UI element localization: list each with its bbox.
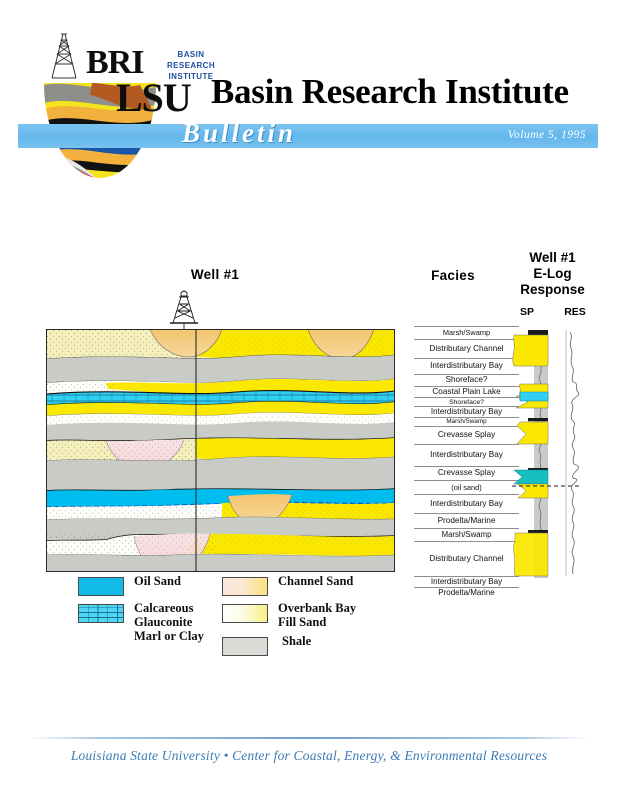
facies-row: (oil sand) <box>414 480 519 494</box>
elog-panel <box>508 322 600 578</box>
legend-swatch-overbank <box>222 604 268 623</box>
publication-title: Basin Research Institute <box>211 72 569 112</box>
footer-divider <box>30 737 588 739</box>
facies-label: Marsh/Swamp <box>414 529 519 539</box>
facies-row: Distributary Channel <box>414 339 519 358</box>
facies-label: Distributary Channel <box>414 542 519 564</box>
facies-row: Marsh/Swamp <box>414 417 519 426</box>
legend-label-overbank-line1: Overbank Bay <box>278 601 428 615</box>
legend-swatch-channel-sand <box>222 577 268 596</box>
facies-row: Crevasse Splay <box>414 426 519 444</box>
cross-section-panel <box>46 329 395 572</box>
facies-row: Prodelta/Marine <box>414 587 519 598</box>
facies-label: Shoreface? <box>414 398 519 406</box>
facies-label: Prodelta/Marine <box>414 588 519 598</box>
facies-row: Interdistributary Bay <box>414 444 519 466</box>
bulletin-wordmark: Bulletin <box>182 118 296 149</box>
stratigraphic-figure: Well #1 Facies Well #1 E-Log Response SP… <box>0 238 618 668</box>
legend-label-overbank-line2: Fill Sand <box>278 615 428 629</box>
facies-label: Marsh/Swamp <box>414 327 519 337</box>
facies-label: Coastal Plain Lake <box>414 387 519 397</box>
volume-issue: Volume 5, 1995 <box>508 129 586 141</box>
facies-row: Prodelta/Marine <box>414 513 519 528</box>
well-heading: Well #1 <box>160 267 270 282</box>
elog-heading-line1: Well #1 <box>500 250 605 266</box>
facies-label: Interdistributary Bay <box>414 577 519 587</box>
facies-row: Interdistributary Bay <box>414 494 519 513</box>
facies-row: Marsh/Swamp <box>414 528 519 541</box>
facies-label: Interdistributary Bay <box>414 359 519 371</box>
facies-row: Crevasse Splay <box>414 466 519 480</box>
sp-curve-label: SP <box>512 306 542 318</box>
facies-label: Shoreface? <box>414 375 519 385</box>
masthead: BRI BASINRESEARCHINSTITUTE <box>0 0 618 180</box>
legend-swatch-oil-sand <box>78 577 124 596</box>
facies-label: Interdistributary Bay <box>414 495 519 509</box>
facies-label: Crevasse Splay <box>414 467 519 478</box>
facies-row: Shoreface? <box>414 374 519 386</box>
facies-row: Shoreface? <box>414 397 519 406</box>
facies-label: Distributary Channel <box>414 340 519 354</box>
res-curve-label: RES <box>558 306 592 318</box>
facies-row: Distributary Channel <box>414 541 519 576</box>
facies-row: Interdistributary Bay <box>414 406 519 417</box>
legend-swatch-shale <box>222 637 268 656</box>
footer-credit: Louisiana State University • Center for … <box>0 748 618 764</box>
facies-row: Interdistributary Bay <box>414 576 519 587</box>
well-derrick-icon <box>166 287 202 332</box>
derrick-icon <box>44 30 84 85</box>
legend-label-overbank: Overbank Bay Fill Sand <box>278 601 428 629</box>
facies-label: (oil sand) <box>414 481 519 492</box>
elog-heading-line3: Response <box>500 282 605 298</box>
elog-heading: Well #1 E-Log Response <box>500 250 605 298</box>
legend-label-shale: Shale <box>282 634 432 648</box>
elog-heading-line2: E-Log <box>500 266 605 282</box>
facies-label: Prodelta/Marine <box>414 514 519 526</box>
facies-column: Marsh/SwampDistributary ChannelInterdist… <box>414 326 519 576</box>
figure-legend: Oil Sand Calcareous Glauconite Marl or C… <box>46 569 395 661</box>
facies-row: Marsh/Swamp <box>414 326 519 339</box>
facies-row: Coastal Plain Lake <box>414 386 519 397</box>
facies-label: Crevasse Splay <box>414 427 519 440</box>
facies-label: Marsh/Swamp <box>414 418 519 426</box>
facies-label: Interdistributary Bay <box>414 407 519 417</box>
legend-swatch-marl <box>78 604 124 623</box>
legend-label-channel-sand: Channel Sand <box>278 574 428 588</box>
facies-heading: Facies <box>408 268 498 283</box>
facies-row: Interdistributary Bay <box>414 358 519 374</box>
lsu-acronym: LSU <box>116 78 191 118</box>
facies-label: Interdistributary Bay <box>414 445 519 460</box>
